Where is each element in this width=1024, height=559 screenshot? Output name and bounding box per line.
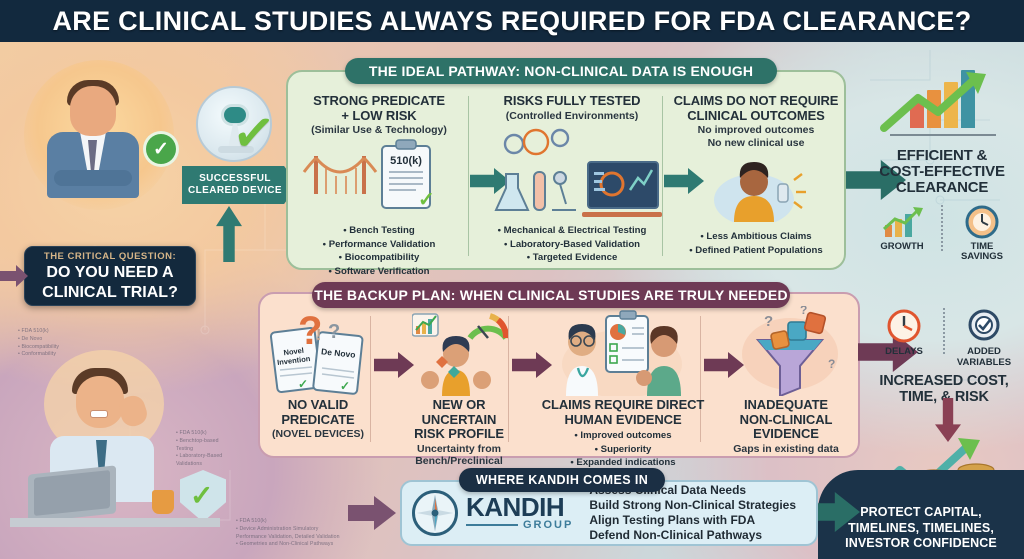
time-savings-metric: TIME SAVINGS — [951, 205, 1013, 263]
kandih-subname: GROUP — [523, 519, 573, 531]
patient-with-device-icon — [710, 150, 810, 222]
ideal-column-3: CLAIMS DO NOT REQUIRE CLINICAL OUTCOMES … — [672, 94, 840, 149]
critical-question-line-2: CLINICAL TRIAL? — [42, 284, 178, 301]
ideal-col3-bullets: • Less Ambitious Claims • Defined Patien… — [668, 230, 844, 257]
backup-col3-heading: CLAIMS REQUIRE DIRECT HUMAN EVIDENCE — [540, 398, 706, 427]
backup-col3-bullets: • Improved outcomes • Superiority • Expa… — [540, 429, 706, 470]
svg-text:✓: ✓ — [418, 189, 434, 210]
ideal-column-2: RISKS FULLY TESTED (Controlled Environme… — [486, 94, 658, 122]
lab-testing-icon — [492, 128, 662, 220]
ideal-divider-2 — [662, 96, 663, 256]
confident-professional-illustration: ✓ — [18, 58, 196, 218]
backup-column-1: NO VALID PREDICATE (NOVEL DEVICES) — [262, 398, 374, 441]
upward-trend-arrow-icon — [870, 70, 1016, 136]
svg-text:!: ! — [316, 327, 321, 344]
ideal-col2-heading: RISKS FULLY TESTED — [486, 94, 658, 109]
510k-document-icon: 510(k) ✓ — [378, 138, 434, 210]
svg-text:?: ? — [328, 321, 340, 343]
ideal-col2-sub: (Controlled Environments) — [486, 110, 658, 123]
desk-surface — [10, 518, 220, 527]
backup-col2-sub: Uncertainty from Bench/Preclinical — [398, 443, 520, 468]
kandih-name: KANDIH — [466, 495, 573, 520]
ideal-col1-bullets: • Bench Testing • Performance Validation… — [294, 224, 464, 278]
backup-col1-sub: (NOVEL DEVICES) — [262, 428, 374, 441]
kandih-wordmark: KANDIH GROUP — [466, 495, 573, 532]
backup-col1-heading: NO VALID PREDICATE — [262, 398, 374, 427]
gear-check-icon — [965, 308, 1003, 344]
svg-text:✓: ✓ — [340, 379, 350, 393]
backup-col4-heading: INADEQUATE NON-CLINICAL EVIDENCE — [716, 398, 856, 442]
efficient-metrics-row: GROWTH TIME SAVINGS — [862, 205, 1022, 263]
coffee-mug-icon — [152, 490, 174, 514]
shield-check-icon: ✓ — [190, 482, 213, 510]
infographic-canvas: ARE CLINICAL STUDIES ALWAYS REQUIRED FOR… — [0, 0, 1024, 559]
funnel-puzzle-icon: ? ? ? — [736, 306, 846, 396]
risk-metrics-row: DELAYS ADDED VARIABLES — [866, 308, 1022, 368]
backup-column-3: CLAIMS REQUIRE DIRECT HUMAN EVIDENCE • I… — [540, 398, 706, 470]
ideal-column-1: STRONG PREDICATE + LOW RISK (Similar Use… — [294, 94, 464, 137]
compass-icon — [412, 490, 458, 536]
critical-question-line-1: DO YOU NEED A — [46, 264, 173, 281]
page-title: ARE CLINICAL STUDIES ALWAYS REQUIRED FOR… — [52, 6, 971, 37]
person-head — [70, 86, 116, 136]
svg-text:?: ? — [800, 306, 807, 317]
svg-text:?: ? — [764, 313, 773, 330]
green-checkmark-icon: ✓ — [229, 106, 278, 162]
worried-person-mouth — [90, 410, 108, 418]
ideal-col1-sub: (Similar Use & Technology) — [294, 124, 464, 137]
time-savings-label: TIME SAVINGS — [951, 242, 1013, 263]
backup-column-4: INADEQUATE NON-CLINICAL EVIDENCE Gaps in… — [716, 398, 856, 455]
delays-metric: DELAYS — [873, 308, 935, 358]
svg-text:?: ? — [828, 357, 835, 371]
efficient-outcome-block: EFFICIENT & COST-EFFECTIVE CLEARANCE GRO… — [862, 70, 1022, 285]
uncertain-risk-person-icon — [412, 310, 508, 396]
ideal-divider-1 — [468, 96, 469, 256]
footnote-mid: • FDA 510(k) • Benchtop-based Testing • … — [176, 430, 266, 469]
ideal-col3-heading: CLAIMS DO NOT REQUIRE CLINICAL OUTCOMES — [672, 94, 840, 123]
successful-cleared-device-label: SUCCESSFUL CLEARED DEVICE — [182, 166, 298, 204]
laptop-screen — [34, 470, 110, 516]
backup-plan-banner: THE BACKUP PLAN: WHEN CLINICAL STUDIES A… — [312, 282, 790, 308]
header-banner: ARE CLINICAL STUDIES ALWAYS REQUIRED FOR… — [0, 0, 1024, 42]
svg-text:✓: ✓ — [298, 377, 308, 391]
doctor-patient-clipboard-icon — [548, 308, 698, 396]
ideal-col3-sub: No improved outcomes No new clinical use — [672, 124, 840, 149]
backup-col4-sub: Gaps in existing data — [716, 443, 856, 456]
kandih-banner: WHERE KANDIH COMES IN — [459, 468, 665, 492]
kandih-subname-row: GROUP — [466, 519, 573, 531]
risk-metrics-divider — [943, 308, 945, 354]
protect-capital-text: PROTECT CAPITAL, TIMELINES, TIMELINES, I… — [845, 505, 997, 551]
kandih-rule — [466, 524, 518, 526]
person-arms — [54, 170, 132, 186]
kandih-logo[interactable]: KANDIH GROUP — [412, 490, 573, 536]
ideal-col2-bullets: • Mechanical & Electrical Testing • Labo… — [482, 224, 662, 265]
backup-col2-heading: NEW OR UNCERTAIN RISK PROFILE — [398, 398, 520, 442]
arrow-into-kandih-icon — [348, 496, 396, 530]
cleared-line-1: SUCCESSFUL — [199, 173, 271, 186]
bridge-icon — [300, 142, 386, 194]
clock-icon — [964, 205, 1000, 239]
delays-label: DELAYS — [873, 347, 935, 357]
growth-metric: GROWTH — [871, 205, 933, 253]
worried-person-head — [76, 376, 124, 428]
growth-icon — [879, 205, 925, 239]
efficient-clearance-title: EFFICIENT & COST-EFFECTIVE CLEARANCE — [862, 148, 1022, 197]
critical-question-box: THE CRITICAL QUESTION: DO YOU NEED A CLI… — [24, 246, 196, 306]
novel-invention-documents-icon: Novel Invention De Novo ✓ ✓ ? ? ! — [268, 312, 368, 396]
delay-clock-icon — [885, 308, 923, 344]
ideal-col1-heading: STRONG PREDICATE + LOW RISK — [294, 94, 464, 123]
svg-text:510(k): 510(k) — [390, 155, 422, 167]
checkmark-icon: ✓ — [146, 134, 176, 164]
added-variables-metric: ADDED VARIABLES — [953, 308, 1015, 368]
critical-question-kicker: THE CRITICAL QUESTION: — [44, 251, 176, 262]
backup-column-2: NEW OR UNCERTAIN RISK PROFILE Uncertaint… — [398, 398, 520, 468]
arrow-into-question-icon — [0, 265, 28, 287]
cleared-line-2: CLEARED DEVICE — [188, 185, 282, 198]
ideal-pathway-banner: THE IDEAL PATHWAY: NON-CLINICAL DATA IS … — [345, 58, 777, 84]
growth-chart-illustration — [862, 70, 1022, 142]
growth-label: GROWTH — [871, 242, 933, 252]
footnote-bottom: • FDA 510(k) • Device Administration Sim… — [236, 518, 366, 549]
added-variables-label: ADDED VARIABLES — [953, 347, 1015, 368]
footnote-top: • FDA 510(k) • De Novo • Biocompatibilit… — [18, 328, 128, 359]
metrics-divider — [941, 205, 943, 251]
